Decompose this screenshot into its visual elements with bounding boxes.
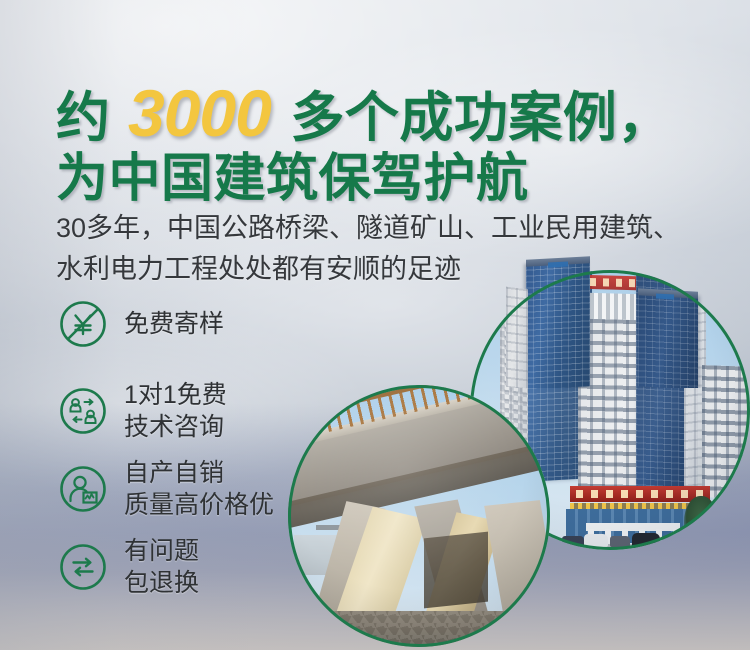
headline-number: 3000 (126, 76, 275, 150)
bridge-photo-shading (288, 385, 550, 647)
promo-banner: 约 3000 多个成功案例， 为中国建筑保驾护航 30多年，中国公路桥梁、隧道矿… (0, 0, 750, 650)
bridge-photo (288, 385, 550, 647)
feature-label-line-1: 自产自销 (124, 459, 224, 487)
feature-label-return-exchange: 有问题 包退换 (124, 535, 199, 599)
feature-item-self-production: 自产自销 质量高价格优 (58, 456, 318, 522)
tower-right-crown (638, 292, 698, 388)
feature-label-line-1: 免费寄样 (124, 310, 224, 338)
headline: 约 3000 多个成功案例， 为中国建筑保驾护航 (56, 80, 716, 205)
one-on-one-consult-icon (58, 386, 108, 436)
building-towers-overflow (470, 248, 750, 388)
tower-left-crown (526, 260, 590, 388)
feature-label-line-2: 技术咨询 (124, 413, 224, 441)
feature-item-consult: 1对1免费 技术咨询 (58, 378, 318, 444)
free-sample-icon (58, 299, 108, 349)
feature-label-line-1: 1对1免费 (124, 381, 227, 409)
tower-left-stone-flank (506, 287, 528, 388)
headline-suffix: 多个成功案例， (290, 88, 672, 148)
feature-list: 免费寄样 (58, 296, 318, 600)
feature-item-free-sample: 免费寄样 (58, 296, 318, 352)
feature-item-return-exchange: 有问题 包退换 (58, 534, 318, 600)
tower-right-roof-logo (656, 293, 674, 299)
feature-label-free-sample: 免费寄样 (124, 308, 224, 340)
headline-line-2: 为中国建筑保驾护航 (56, 153, 716, 205)
feature-label-line-1: 有问题 (124, 537, 199, 565)
feature-label-consult: 1对1免费 技术咨询 (124, 379, 227, 443)
return-exchange-icon (58, 542, 108, 592)
headline-prefix: 约 (56, 88, 111, 148)
feature-label-line-2: 包退换 (124, 569, 199, 597)
subtitle-line-1: 30多年，中国公路桥梁、隧道矿山、工业民用建筑、 (56, 208, 736, 249)
feature-label-line-2: 质量高价格优 (124, 491, 274, 519)
headline-line-1: 约 3000 多个成功案例， (56, 80, 716, 146)
self-production-icon (58, 464, 108, 514)
feature-label-self-production: 自产自销 质量高价格优 (124, 457, 274, 521)
